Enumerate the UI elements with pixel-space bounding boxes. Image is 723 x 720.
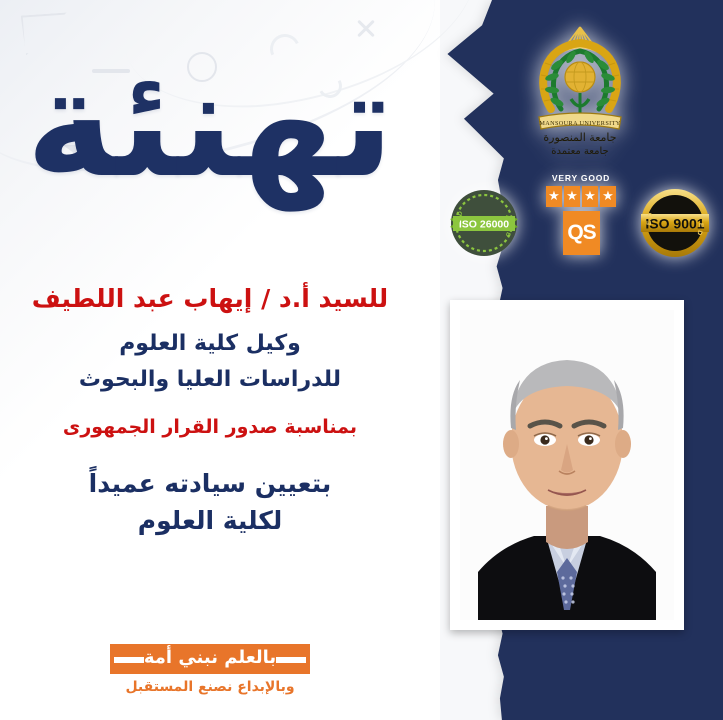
star-icon: ★ — [546, 186, 562, 207]
body-line-1: بتعيين سيادته عميداً — [0, 465, 420, 503]
svg-text:MANSOURA UNIVERSITY: MANSOURA UNIVERSITY — [539, 120, 620, 127]
qs-rating-label: VERY GOOD — [544, 173, 618, 183]
university-name-arabic: جامعة المنصورة — [543, 131, 616, 144]
message-block: للسيد أ.د / إيهاب عبد اللطيف وكيل كلية ا… — [0, 283, 420, 540]
star-icon: ★ — [582, 186, 598, 207]
qs-rating-badge: VERY GOOD ★ ★ ★ ★ QS — [544, 173, 618, 265]
slogan-block: بالعلم نبني أمة وبالإبداع نصنع المستقبل — [0, 644, 420, 695]
headline-calligraphy: تهنئة — [0, 24, 420, 224]
addressee-name: للسيد أ.د / إيهاب عبد اللطيف — [0, 283, 420, 314]
portrait-frame — [450, 300, 684, 630]
role-line-1: وكيل كلية العلوم — [0, 328, 420, 360]
university-logo: MANSOURA UNIVERSITY جامعة المنصورة جامعة… — [521, 17, 639, 157]
role-line-2: للدراسات العليا والبحوث — [0, 364, 420, 396]
slogan-sub: وبالإبداع نصنع المستقبل — [0, 679, 420, 695]
qs-logo-mark: QS — [563, 211, 600, 255]
star-icon: ★ — [564, 186, 580, 207]
occasion-text: بمناسبة صدور القرار الجمهورى — [0, 414, 420, 441]
university-accreditation-arabic: جامعة معتمدة — [551, 146, 608, 157]
slogan-main: بالعلم نبني أمة — [110, 644, 310, 674]
iso-9001-label: ISO 9001 — [645, 216, 704, 232]
iso-26000-label: ISO 26000 — [459, 219, 509, 231]
congratulations-poster: تهنئة للسيد أ.د / إيهاب عبد اللطيف وكيل … — [0, 0, 723, 720]
portrait-photo — [460, 310, 674, 620]
body-line-2: لكلية العلوم — [0, 502, 420, 540]
star-icon: ★ — [600, 186, 616, 207]
qs-star-row: ★ ★ ★ ★ — [544, 186, 618, 209]
accreditation-badges: ISO 26000 CERTIFIED CERTIFIED VERY GOOD … — [444, 173, 716, 265]
iso-26000-badge: ISO 26000 CERTIFIED CERTIFIED — [448, 187, 520, 259]
iso-9001-badge: ISO 9001 CERTIFIED CERTIFIED — [638, 187, 712, 259]
